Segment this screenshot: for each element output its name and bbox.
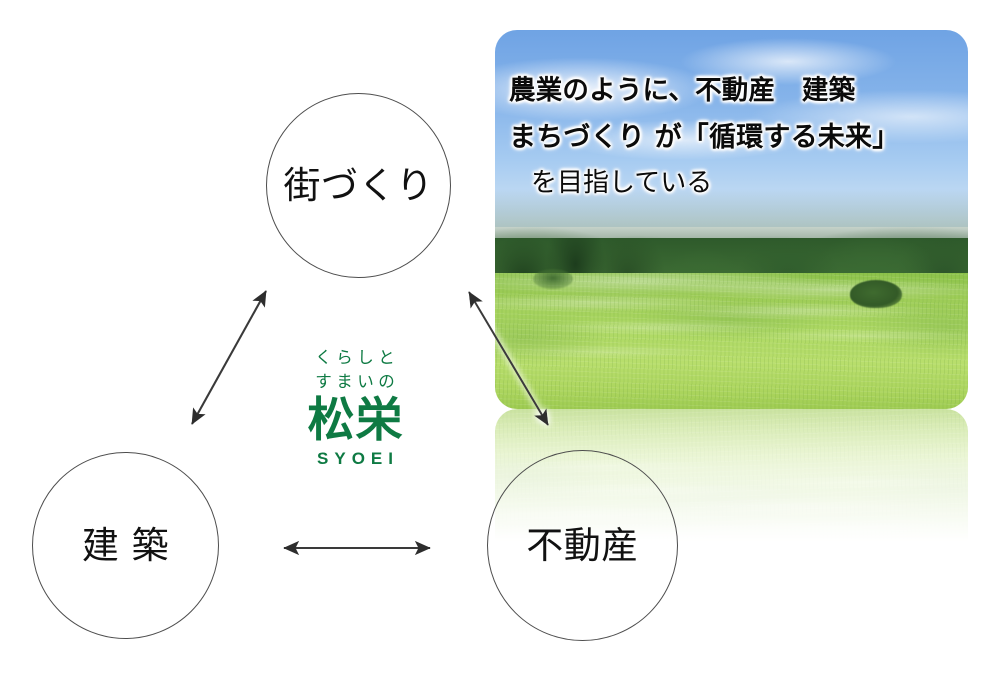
company-logo: くらしと すまいの 松栄 SYOEI (290, 346, 420, 469)
node-machizukuri-label: 街づくり (284, 167, 434, 204)
node-kenchiku-label: 建 築 (82, 527, 169, 564)
caption-line-3: を目指している (509, 167, 954, 201)
logo-kana-line-2: すまいの (290, 370, 420, 394)
logo-romanized-name: SYOEI (290, 449, 420, 469)
node-kenchiku[interactable]: 建 築 (32, 452, 219, 639)
lone-tree-icon (850, 280, 902, 308)
photo-block: 農業のように、不動産 建築 まちづくり が「循環する未来」 を目指している (495, 30, 968, 409)
caption-line-1: 農業のように、不動産 建築 (509, 74, 954, 108)
node-machizukuri[interactable]: 街づくり (266, 93, 451, 278)
logo-kana-line-1: くらしと (290, 346, 420, 370)
diagram-canvas: 農業のように、不動産 建築 まちづくり が「循環する未来」 を目指している (0, 0, 1000, 692)
node-fudosan[interactable]: 不動産 (487, 450, 678, 641)
node-fudosan-label: 不動産 (526, 527, 639, 564)
logo-company-name: 松栄 (290, 396, 420, 445)
photo-caption: 農業のように、不動産 建築 まちづくり が「循環する未来」 を目指している (495, 74, 968, 200)
arrow-machizukuri-kenchiku (192, 291, 266, 424)
lone-tree-secondary-icon (533, 269, 573, 289)
caption-line-2: まちづくり が「循環する未来」 (509, 120, 954, 155)
